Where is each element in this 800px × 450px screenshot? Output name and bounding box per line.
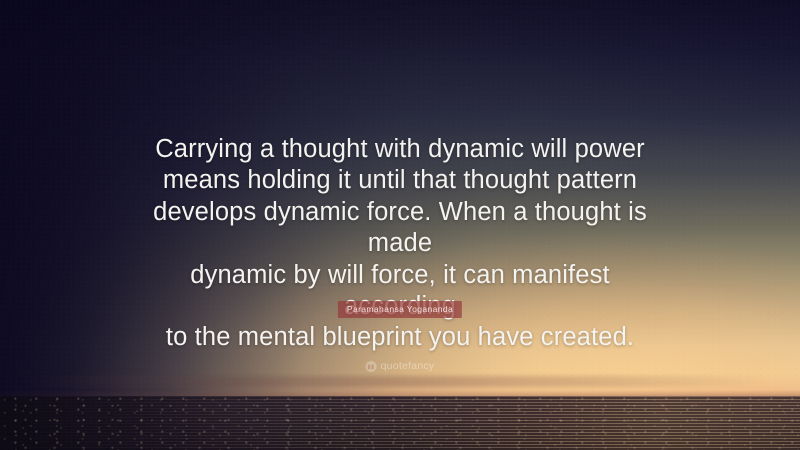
horizon-cloud-band [0,376,800,387]
quote-wallpaper: Carrying a thought with dynamic will pow… [0,0,800,450]
quote-mark-logo-icon [366,361,377,372]
watermark-brand: quotefancy [381,361,435,372]
author-badge[interactable]: Paramahansa Yogananda [338,301,462,318]
watermark[interactable]: quotefancy [366,361,435,372]
ocean-highlight-specks [0,396,800,450]
ocean [0,396,800,450]
